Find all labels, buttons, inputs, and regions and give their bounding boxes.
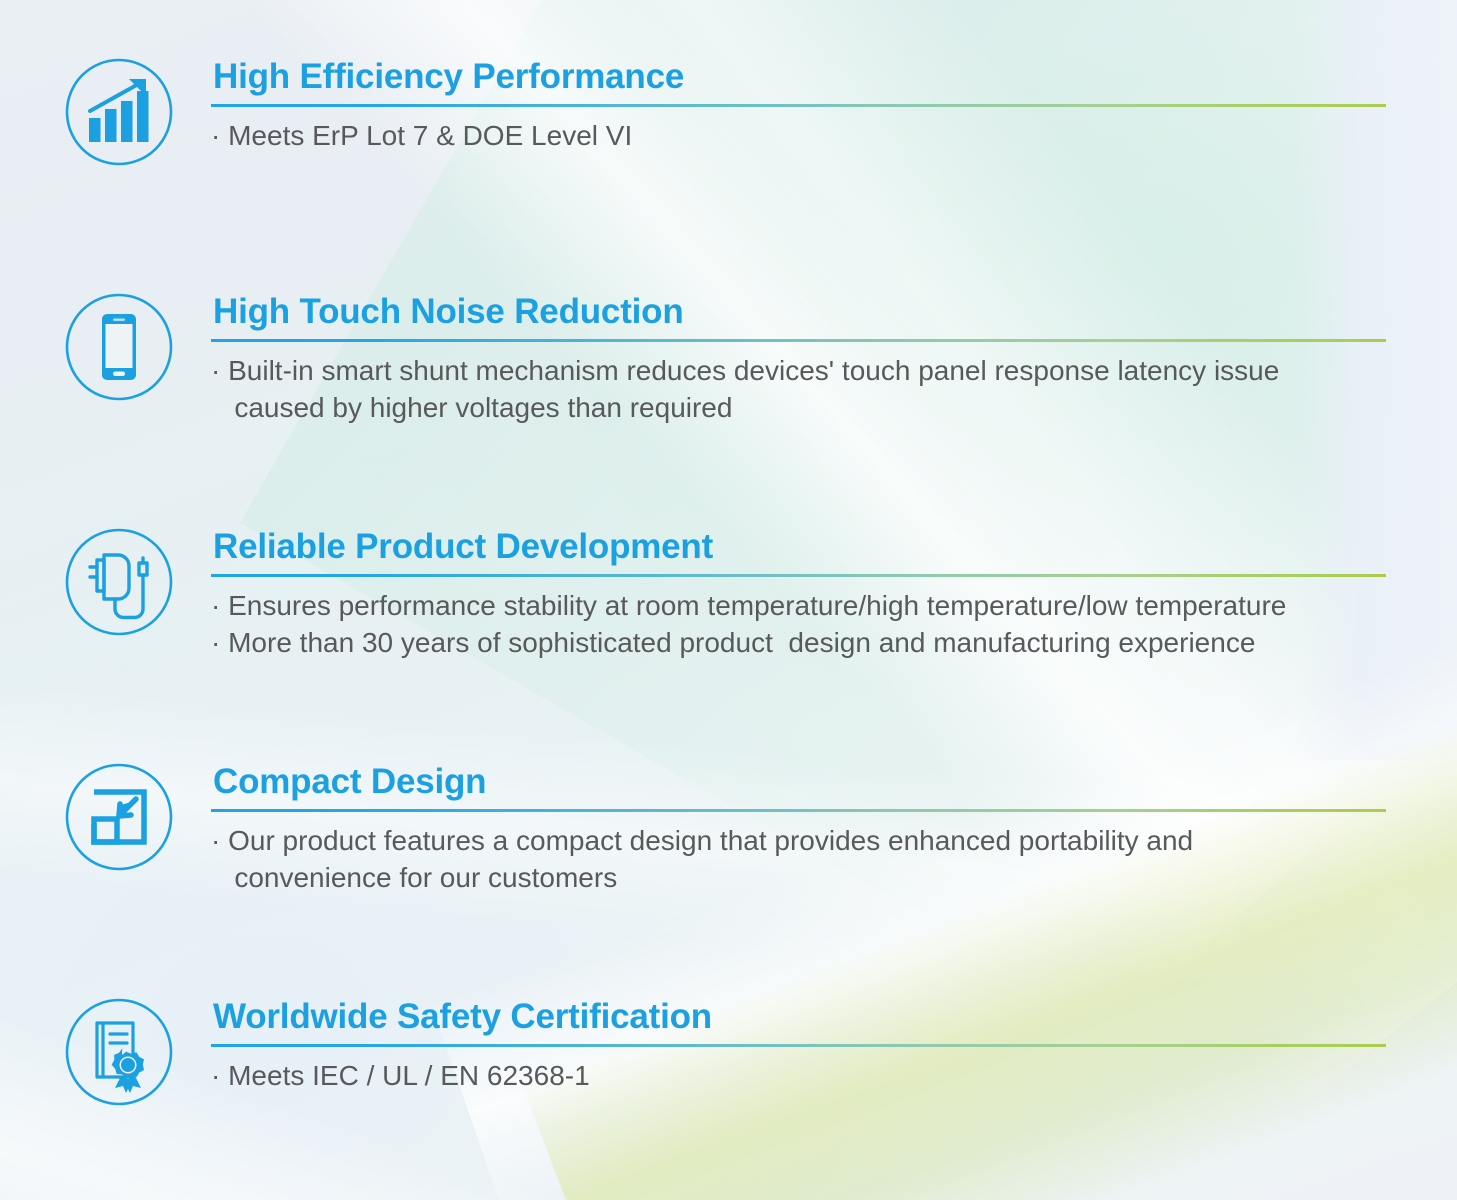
feature-description-line: · Meets IEC / UL / EN 62368-1 [211, 1057, 1386, 1094]
feature-description: · Built-in smart shunt mechanism reduces… [211, 352, 1386, 426]
feature-description-line: · Ensures performance stability at room … [211, 587, 1386, 624]
feature-description-line: convenience for our customers [211, 859, 1386, 896]
feature-body: Worldwide Safety Certification · Meets I… [211, 992, 1386, 1094]
feature-description: · Ensures performance stability at room … [211, 587, 1386, 661]
feature-divider [211, 574, 1386, 577]
feature-description-line: · Built-in smart shunt mechanism reduces… [211, 352, 1386, 389]
compact-resize-icon [59, 757, 179, 877]
feature-title: High Efficiency Performance [213, 58, 1386, 96]
feature-divider [211, 104, 1386, 107]
feature-item-high-touch-noise-reduction: High Touch Noise Reduction · Built-in sm… [0, 287, 1457, 426]
feature-title: Reliable Product Development [213, 528, 1386, 566]
feature-title: Compact Design [213, 763, 1386, 801]
feature-item-reliable-product-development: Reliable Product Development · Ensures p… [0, 522, 1457, 661]
feature-description: · Our product features a compact design … [211, 822, 1386, 896]
feature-description-line: · Our product features a compact design … [211, 822, 1386, 859]
feature-description-line: caused by higher voltages than required [211, 389, 1386, 426]
feature-body: High Efficiency Performance · Meets ErP … [211, 52, 1386, 154]
feature-divider [211, 809, 1386, 812]
feature-title: Worldwide Safety Certification [213, 998, 1386, 1036]
feature-description-line: · More than 30 years of sophisticated pr… [211, 624, 1386, 661]
feature-description: · Meets ErP Lot 7 & DOE Level VI [211, 117, 1386, 154]
feature-title: High Touch Noise Reduction [213, 293, 1386, 331]
power-adapter-icon [59, 522, 179, 642]
feature-body: Reliable Product Development · Ensures p… [211, 522, 1386, 661]
feature-item-high-efficiency-performance: High Efficiency Performance · Meets ErP … [0, 52, 1457, 172]
feature-item-compact-design: Compact Design · Our product features a … [0, 757, 1457, 896]
feature-body: Compact Design · Our product features a … [211, 757, 1386, 896]
feature-divider [211, 1044, 1386, 1047]
smartphone-icon [59, 287, 179, 407]
feature-item-worldwide-safety-certification: Worldwide Safety Certification · Meets I… [0, 992, 1457, 1112]
certificate-award-icon [59, 992, 179, 1112]
feature-highlights-page: High Efficiency Performance · Meets ErP … [0, 0, 1457, 1200]
feature-body: High Touch Noise Reduction · Built-in sm… [211, 287, 1386, 426]
feature-description-line: · Meets ErP Lot 7 & DOE Level VI [211, 117, 1386, 154]
growth-chart-icon [59, 52, 179, 172]
feature-description: · Meets IEC / UL / EN 62368-1 [211, 1057, 1386, 1094]
feature-divider [211, 339, 1386, 342]
